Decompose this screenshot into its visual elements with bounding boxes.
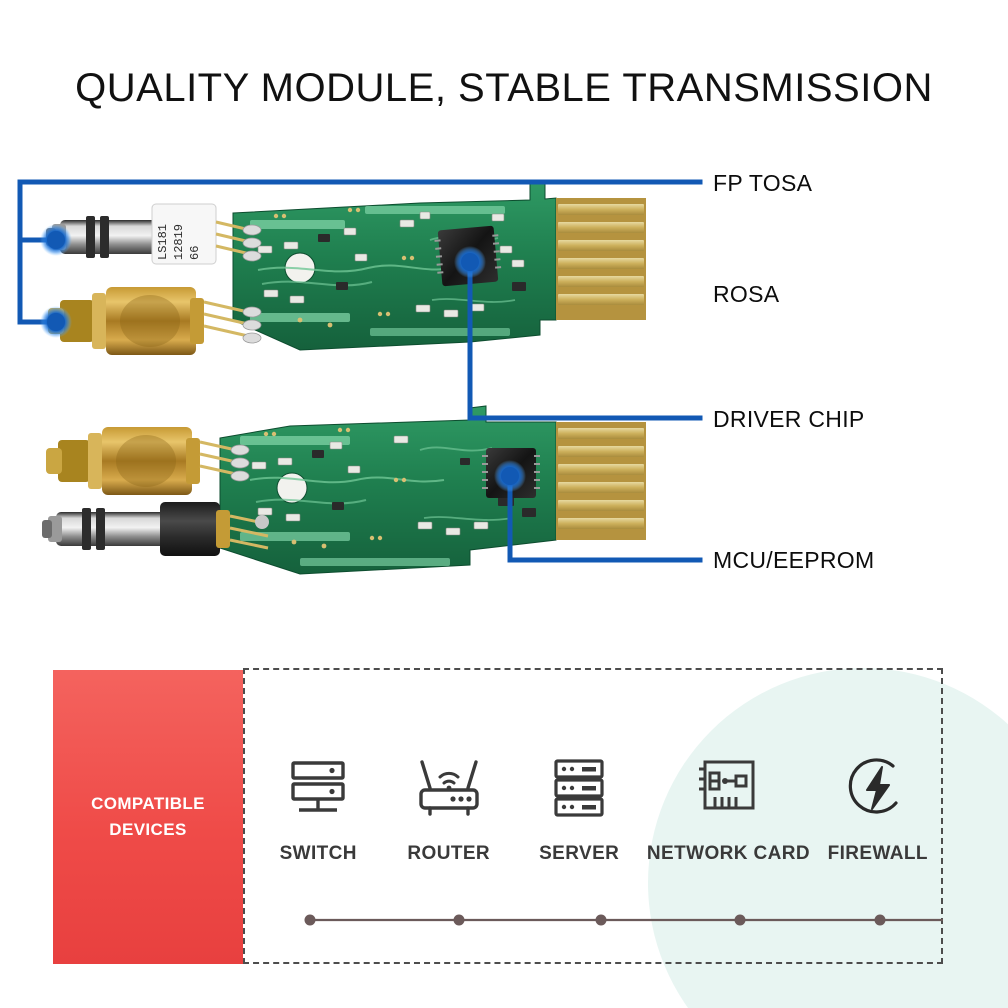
callout-label-driver-chip: DRIVER CHIP	[713, 406, 865, 433]
bottom-pcb-board: SFP-003-V2 258	[220, 406, 604, 574]
device-timeline	[253, 908, 943, 932]
device-label-server: SERVER	[539, 843, 619, 865]
top-gold-fingers	[556, 198, 646, 320]
fp-tosa-component: LS181 12819 66	[46, 204, 261, 264]
device-item-network-card[interactable]: NETWORK CARD	[644, 749, 812, 865]
device-item-switch[interactable]: SWITCH	[253, 749, 383, 865]
device-label-router: ROUTER	[407, 843, 490, 865]
callout-label-fp-tosa: FP TOSA	[713, 170, 812, 197]
firewall-icon	[846, 749, 910, 827]
svg-text:12819: 12819	[172, 224, 186, 260]
timeline-dot	[305, 915, 316, 926]
compatible-devices-section: COMPATIBLE DEVICES SWITCH	[53, 668, 945, 966]
banner-line-2: DEVICES	[91, 817, 205, 843]
server-icon	[549, 749, 609, 827]
device-item-server[interactable]: SERVER	[514, 749, 644, 865]
compatible-devices-banner: COMPATIBLE DEVICES	[53, 670, 243, 964]
top-pcb-board	[233, 181, 556, 350]
tosa-label: LS181 12819 66	[152, 204, 216, 264]
page-title: QUALITY MODULE, STABLE TRANSMISSION	[0, 66, 1008, 111]
compatible-devices-banner-text: COMPATIBLE DEVICES	[91, 791, 205, 844]
timeline-dot	[454, 915, 465, 926]
top-module-assembly: LS181 12819 66	[46, 181, 646, 355]
device-label-switch: SWITCH	[280, 843, 357, 865]
device-icons-row: SWITCH	[253, 730, 943, 865]
poster-canvas: QUALITY MODULE, STABLE TRANSMISSION	[0, 0, 1008, 1008]
banner-line-1: COMPATIBLE	[91, 791, 205, 817]
bottom-gold-fingers	[556, 422, 646, 540]
callout-label-mcu-eeprom: MCU/EEPROM	[713, 547, 874, 574]
device-timeline-svg	[253, 908, 943, 932]
rosa-component-2	[46, 427, 249, 495]
device-label-firewall: FIREWALL	[828, 843, 928, 865]
timeline-dot	[875, 915, 886, 926]
timeline-dot	[735, 915, 746, 926]
timeline-dot	[596, 915, 607, 926]
device-item-router[interactable]: ROUTER	[383, 749, 513, 865]
svg-text:LS181: LS181	[156, 224, 170, 260]
switch-icon	[285, 749, 351, 827]
router-icon	[412, 749, 486, 827]
callout-label-rosa: ROSA	[713, 281, 779, 308]
device-item-firewall[interactable]: FIREWALL	[813, 749, 943, 865]
bottom-module-assembly: SFP-003-V2 258	[42, 406, 646, 574]
device-label-network-card: NETWORK CARD	[647, 843, 810, 865]
svg-text:66: 66	[188, 246, 202, 260]
rosa-component	[48, 287, 261, 355]
network-card-icon	[695, 749, 761, 827]
